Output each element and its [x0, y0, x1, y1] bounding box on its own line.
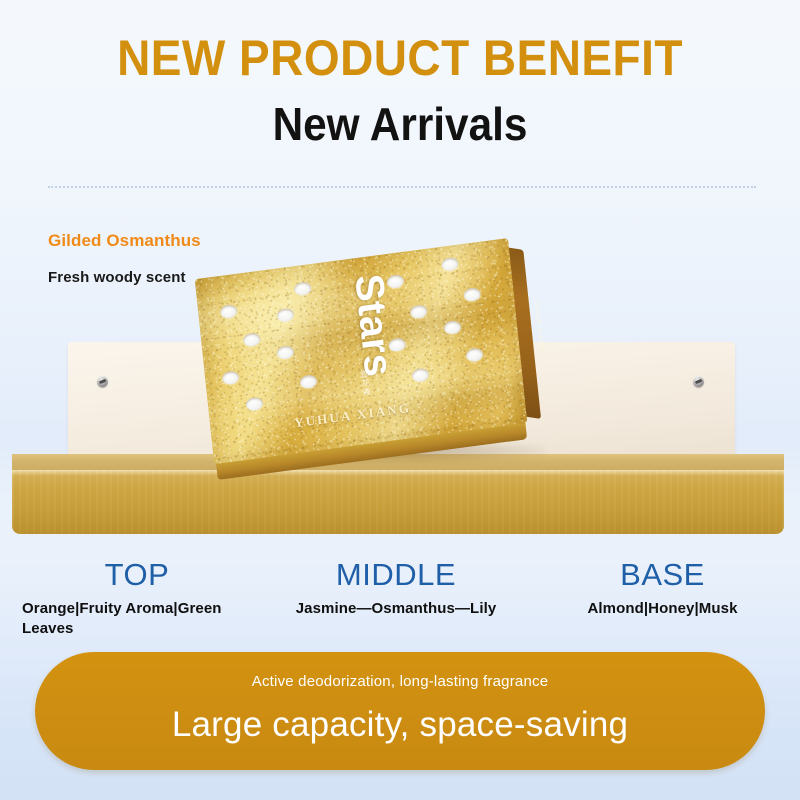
product-box: YUHUA XIANG [205, 258, 565, 473]
fragrance-note-middle: MIDDLE Jasmine—Osmanthus—Lily [265, 556, 527, 619]
fragrance-note-body: Almond|Honey|Musk [535, 599, 790, 619]
screw-icon-left [97, 376, 108, 387]
dotted-divider [48, 186, 756, 188]
fragrance-note-base: BASE Almond|Honey|Musk [535, 556, 790, 619]
benefit-banner-title: Large capacity, space-saving [35, 704, 765, 746]
product-box-side-text: YUHUA XIANG [532, 297, 544, 351]
page-headline: NEW PRODUCT BENEFIT [32, 30, 768, 86]
benefit-banner: Active deodorization, long-lasting fragr… [35, 652, 765, 770]
fragrance-note-title: TOP [12, 556, 262, 594]
screw-icon-right [693, 376, 704, 387]
fragrance-note-title: MIDDLE [265, 556, 527, 594]
scent-description-label: Fresh woody scent [48, 269, 186, 286]
page-subheadline: New Arrivals [32, 97, 768, 151]
benefit-banner-subtitle: Active deodorization, long-lasting fragr… [35, 673, 765, 690]
fragrance-note-body: Jasmine—Osmanthus—Lily [265, 599, 527, 619]
fragrance-note-top: TOP Orange|Fruity Aroma|Green Leaves [12, 556, 262, 639]
shelf-wood-grain [12, 470, 784, 534]
scent-name-label: Gilded Osmanthus [48, 231, 201, 251]
fragrance-note-body: Orange|Fruity Aroma|Green Leaves [12, 599, 262, 639]
fragrance-note-title: BASE [535, 556, 790, 594]
product-poster: NEW PRODUCT BENEFIT New Arrivals Gilded … [0, 0, 800, 800]
fragrance-notes: TOP Orange|Fruity Aroma|Green Leaves MID… [0, 556, 800, 646]
